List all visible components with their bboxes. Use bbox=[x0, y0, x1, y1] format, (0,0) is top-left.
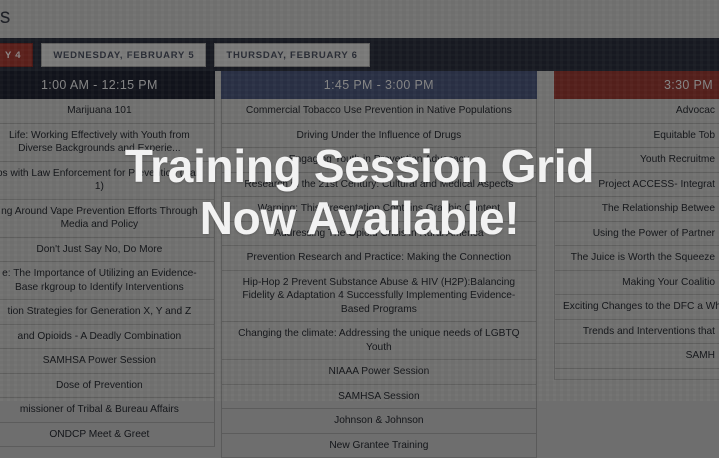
session-row[interactable]: New Grantee Training bbox=[222, 434, 536, 458]
session-row[interactable]: Marijuana 101 bbox=[0, 99, 214, 124]
session-row[interactable]: Commercial Tobacco Use Prevention in Nat… bbox=[222, 99, 536, 124]
session-row[interactable] bbox=[555, 369, 719, 380]
session-row[interactable]: Research in the 21st Century: Cultural a… bbox=[222, 173, 536, 198]
day-tab-1[interactable]: WEDNESDAY, FEBRUARY 5 bbox=[41, 43, 206, 67]
dimmed-page-content: ns Y 4WEDNESDAY, FEBRUARY 5THURSDAY, FEB… bbox=[0, 0, 719, 401]
column-session-list-0: Marijuana 101Life: Working Effectively w… bbox=[0, 99, 215, 447]
session-row[interactable]: Project ACCESS- Integrat bbox=[555, 173, 719, 198]
session-row[interactable]: Youth Recruitme bbox=[555, 148, 719, 173]
session-row[interactable]: Driving Under the Influence of Drugs bbox=[222, 124, 536, 149]
day-tab-0[interactable]: Y 4 bbox=[0, 43, 33, 67]
session-column-0: 1:00 AM - 12:15 PMMarijuana 101Life: Wor… bbox=[0, 71, 215, 447]
session-column-1: 1:45 PM - 3:00 PMCommercial Tobacco Use … bbox=[221, 71, 537, 458]
session-row[interactable]: SAMHSA Session bbox=[222, 385, 536, 410]
column-time-header-0: 1:00 AM - 12:15 PM bbox=[0, 71, 215, 99]
session-row[interactable]: Equitable Tob bbox=[555, 124, 719, 149]
session-row[interactable]: missioner of Tribal & Bureau Affairs bbox=[0, 398, 214, 423]
session-row[interactable]: e: The Importance of Utilizing an Eviden… bbox=[0, 262, 214, 300]
session-grid: 1:00 AM - 12:15 PMMarijuana 101Life: Wor… bbox=[0, 71, 719, 401]
session-row[interactable]: Don't Just Say No, Do More bbox=[0, 238, 214, 263]
session-row[interactable]: Hip-Hop 2 Prevent Substance Abuse & HIV … bbox=[222, 271, 536, 323]
session-row[interactable]: Addressing The Opioid Crisis in Rural Am… bbox=[222, 222, 536, 247]
column-session-list-1: Commercial Tobacco Use Prevention in Nat… bbox=[221, 99, 537, 458]
session-row[interactable]: ps with Law Enforcement for Prevention (… bbox=[0, 162, 214, 200]
session-row[interactable]: Exciting Changes to the DFC a What Every… bbox=[555, 295, 719, 320]
session-row[interactable]: Warning: This Presentation Contains Grap… bbox=[222, 197, 536, 222]
session-row[interactable]: Trends and Interventions that bbox=[555, 320, 719, 345]
page-title: ns bbox=[0, 5, 11, 29]
session-row[interactable]: The Relationship Betwee bbox=[555, 197, 719, 222]
session-row[interactable]: Using the Power of Partner bbox=[555, 222, 719, 247]
session-row[interactable]: Life: Working Effectively with Youth fro… bbox=[0, 124, 214, 162]
session-row[interactable]: Engaging Youth in Prevention Advocacy bbox=[222, 148, 536, 173]
day-tab-bar: Y 4WEDNESDAY, FEBRUARY 5THURSDAY, FEBRUA… bbox=[0, 38, 719, 71]
session-row[interactable]: NIAAA Power Session bbox=[222, 360, 536, 385]
session-column-2: 3:30 PMAdvocacEquitable TobYouth Recruit… bbox=[554, 71, 719, 380]
column-time-header-2: 3:30 PM bbox=[554, 71, 719, 99]
session-row[interactable]: Changing the climate: Addressing the uni… bbox=[222, 322, 536, 360]
session-row[interactable]: Prevention Research and Practice: Making… bbox=[222, 246, 536, 271]
day-tab-2[interactable]: THURSDAY, FEBRUARY 6 bbox=[214, 43, 369, 67]
session-row[interactable]: SAMHSA Power Session bbox=[0, 349, 214, 374]
session-row[interactable]: Dose of Prevention bbox=[0, 374, 214, 399]
session-row[interactable]: SAMH bbox=[555, 344, 719, 369]
session-row[interactable]: ng Around Vape Prevention Efforts Throug… bbox=[0, 200, 214, 238]
column-session-list-2: AdvocacEquitable TobYouth RecruitmeProje… bbox=[554, 99, 719, 380]
session-row[interactable]: tion Strategies for Generation X, Y and … bbox=[0, 300, 214, 325]
column-time-header-1: 1:45 PM - 3:00 PM bbox=[221, 71, 537, 99]
session-row[interactable]: Advocac bbox=[555, 99, 719, 124]
session-row[interactable]: Johnson & Johnson bbox=[222, 409, 536, 434]
session-row[interactable]: ONDCP Meet & Greet bbox=[0, 423, 214, 448]
masthead: ns bbox=[0, 0, 719, 38]
session-row[interactable]: and Opioids - A Deadly Combination bbox=[0, 325, 214, 350]
session-row[interactable]: Making Your Coalitio bbox=[555, 271, 719, 296]
session-row[interactable]: The Juice is Worth the Squeeze bbox=[555, 246, 719, 271]
